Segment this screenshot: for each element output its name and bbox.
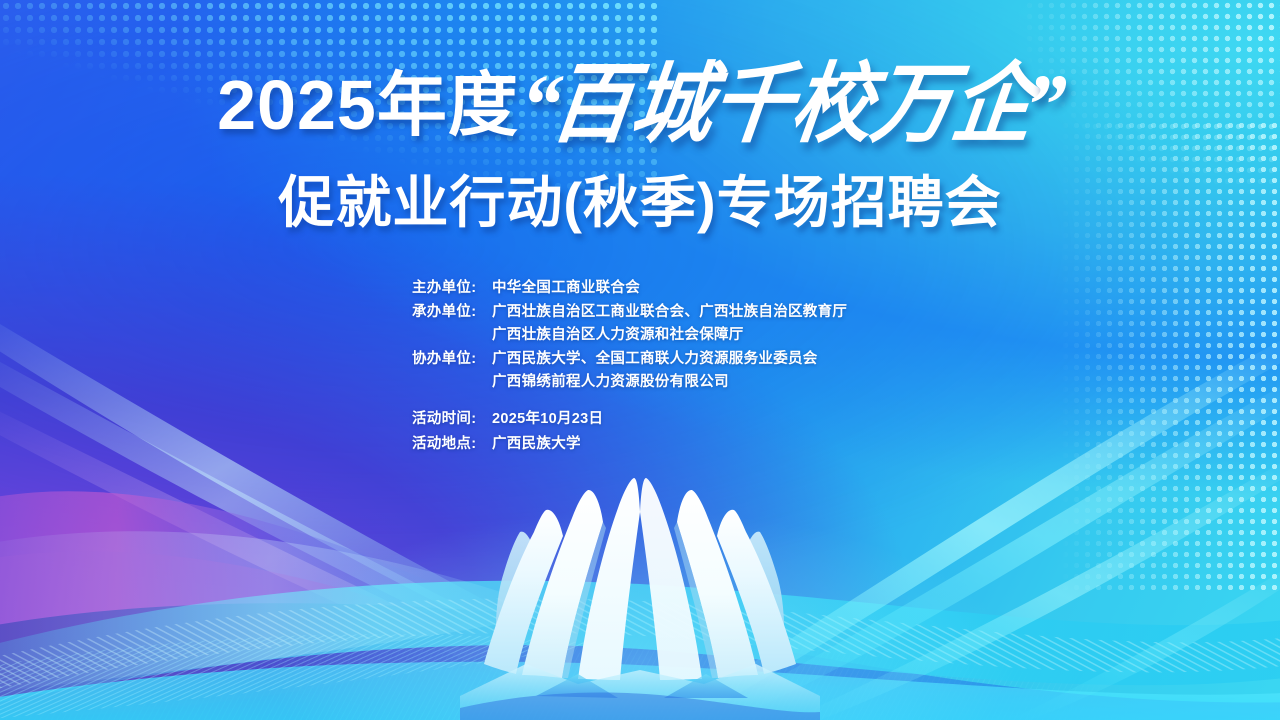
title-brush-phrase: 百城千校万企 [546,61,1037,148]
organizer-label: 协办单位: [412,352,492,367]
event-meta-value: 2025年10月23日 [492,412,603,427]
headline-block: 2025年度 “ 百城千校万企 ” 促就业行动(秋季)专场招聘会 [0,66,1280,239]
organizer-value-line: 广西锦绣前程人力资源股份有限公司 [492,375,818,390]
event-meta-row: 活动时间:2025年10月23日 [412,412,847,427]
organizer-label: 主办单位: [412,281,492,296]
organizer-value: 中华全国工商业联合会 [492,281,640,296]
organizer-row: 协办单位:广西民族大学、全国工商联人力资源服务业委员会广西锦绣前程人力资源股份有… [412,352,847,390]
organizer-label: 承办单位: [412,305,492,320]
organizer-list: 主办单位:中华全国工商业联合会承办单位:广西壮族自治区工商业联合会、广西壮族自治… [412,281,847,390]
event-meta-value-line: 2025年10月23日 [492,412,603,427]
title-year: 2025年度 [217,70,519,140]
organizer-row: 主办单位:中华全国工商业联合会 [412,281,847,296]
organizer-value: 广西民族大学、全国工商联人力资源服务业委员会广西锦绣前程人力资源股份有限公司 [492,352,818,390]
minzu-university-tower-icon [460,470,820,720]
event-info-block: 主办单位:中华全国工商业联合会承办单位:广西壮族自治区工商业联合会、广西壮族自治… [412,281,847,463]
organizer-value: 广西壮族自治区工商业联合会、广西壮族自治区教育厅广西壮族自治区人力资源和社会保障… [492,305,847,343]
event-meta-row: 活动地点:广西民族大学 [412,437,847,452]
organizer-value-line: 广西壮族自治区工商业联合会、广西壮族自治区教育厅 [492,305,847,320]
event-meta-list: 活动时间:2025年10月23日活动地点:广西民族大学 [412,412,847,452]
event-meta-label: 活动地点: [412,437,492,452]
organizer-value-line: 广西壮族自治区人力资源和社会保障厅 [492,328,847,343]
title-main: 2025年度 “ 百城千校万企 ” [0,66,1280,144]
title-subtitle: 促就业行动(秋季)专场招聘会 [0,158,1280,239]
event-meta-label: 活动时间: [412,412,492,427]
organizer-value-line: 广西民族大学、全国工商联人力资源服务业委员会 [492,352,818,367]
organizer-value-line: 中华全国工商业联合会 [492,281,640,296]
poster-canvas: 2025年度 “ 百城千校万企 ” 促就业行动(秋季)专场招聘会 主办单位:中华… [0,0,1280,720]
event-meta-value-line: 广西民族大学 [492,437,581,452]
organizer-row: 承办单位:广西壮族自治区工商业联合会、广西壮族自治区教育厅广西壮族自治区人力资源… [412,305,847,343]
event-meta-value: 广西民族大学 [492,437,581,452]
